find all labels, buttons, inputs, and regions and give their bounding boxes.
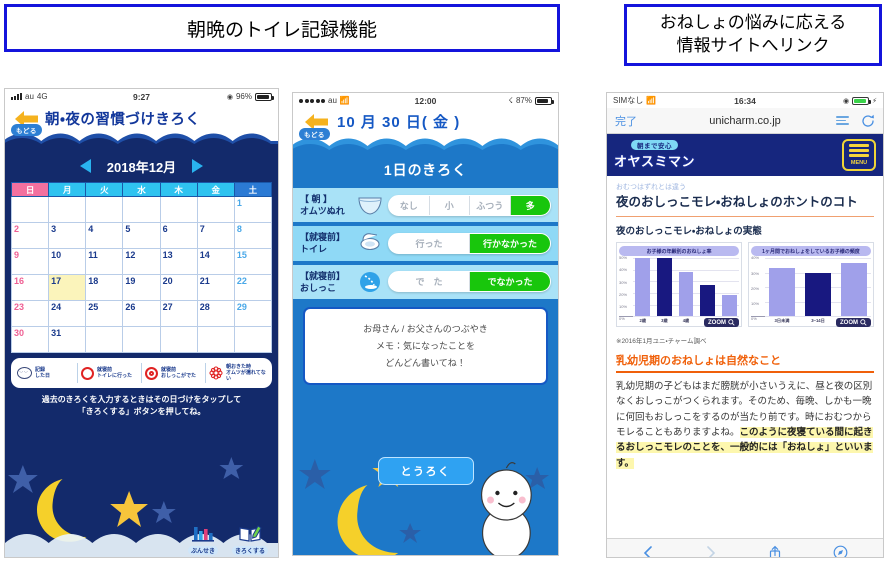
calendar-day-cell[interactable]: 25 (86, 301, 123, 327)
segment-option[interactable]: なし (389, 196, 430, 215)
zoom-label: ZOOM (708, 320, 726, 326)
memo-placeholder-line: どんどん書いてね！ (385, 356, 465, 369)
site-logo[interactable]: 朝まで安心 オヤスミマン (614, 140, 695, 170)
bars (633, 258, 739, 316)
bottom-navigation: ぶんせききろくする (188, 523, 268, 555)
article-body: 乳幼児期の子どもはまだ膀胱が小さいうえに、昼と夜の区別なくおしっこがつくられます… (616, 379, 874, 471)
weekday-header: 火 (86, 183, 123, 197)
memo-placeholder-line: メモ：気になったことを (376, 339, 475, 352)
plot-area: 0%10%20%30%40%50% (619, 258, 739, 316)
calendar-day-cell[interactable]: 24 (49, 301, 86, 327)
safari-footer (607, 538, 883, 558)
back-label-2[interactable]: もどる (299, 128, 330, 140)
bar-wrapper (676, 258, 696, 316)
calendar-body: 1234567891011121314151617181920212223242… (12, 197, 272, 353)
record-rows: 【 朝 】オムツぬれなし小ふつう多【就寝前】トイレ行った行かなかった【就寝前】お… (293, 188, 558, 299)
chart-container: お子様の年齢別のおねしょ率0%10%20%30%40%50%2歳3歳4歳5歳6歳… (616, 242, 874, 327)
calendar-week-row: 2345678 (12, 223, 272, 249)
y-axis: 0%10%20%30%40%50% (619, 255, 633, 316)
divider (616, 216, 874, 217)
status-left-2: au 📶 (299, 96, 350, 105)
ring-icon (81, 367, 94, 380)
chart-title: お子様の年齢別のおねしょ率 (619, 246, 739, 256)
status-bar-2: au 📶 12:00 ☇ 87% (293, 93, 558, 108)
segment-option[interactable]: でなかった (470, 272, 550, 291)
wave-decoration (5, 129, 278, 151)
day-record-screen: 10 月 30 日( 金 ) もどる 1日のきろく 【 朝 】オムツぬれなし小ふ… (293, 108, 558, 556)
calendar-day-cell[interactable]: 9 (12, 249, 49, 275)
calendar-day-cell[interactable]: 12 (123, 249, 160, 275)
weekday-header: 木 (160, 183, 197, 197)
zoom-button[interactable]: ZOOM (836, 318, 871, 327)
bottom-nav-label: ぶんせき (188, 546, 218, 555)
location-icon-3: ◉ (843, 97, 849, 105)
status-right-3: ◉ ⚡ (843, 97, 877, 105)
segment-option[interactable]: ふつう (470, 196, 511, 215)
bottom-nav-label: きろくする (232, 546, 268, 555)
register-button[interactable]: とうろく (378, 457, 474, 485)
diaper-icon (357, 194, 383, 216)
hamburger-icon (849, 149, 869, 152)
phone-screenshot-website: SIMなし 📶 16:34 ◉ ⚡ 完了 unicharm.co.jp (606, 92, 884, 558)
calendar-week-row: 9101112131415 (12, 249, 272, 275)
month-navigation: 2018年12月 (11, 150, 272, 182)
divider-2 (616, 371, 874, 373)
calendar-day-cell[interactable]: 6 (160, 223, 197, 249)
bar-wrapper (698, 258, 718, 316)
record-row-label: 【就寝前】トイレ (300, 231, 352, 255)
calendar-day-cell[interactable]: 15 (234, 249, 271, 275)
zoom-label: ZOOM (840, 320, 858, 326)
hint-line-1: 過去のきろくを入力するときはその日づけをタップして (5, 394, 278, 406)
section-title: 1日のきろく (293, 154, 558, 188)
record-row: 【就寝前】トイレ行った行かなかった (293, 226, 558, 260)
screen-header: 朝・夜の習慣づけきろく もどる (5, 104, 278, 150)
chart-title: 1ヶ月間でおねしょをしているお子様の頻度 (751, 246, 871, 256)
bar-chart: 1ヶ月間でおねしょをしているお子様の頻度0%10%20%30%40%3日未満3~… (748, 242, 874, 327)
pee-icon (357, 271, 383, 293)
calendar-day-cell[interactable]: 14 (197, 249, 234, 275)
legend-item-label: 就寝前おしっこがでた (161, 367, 196, 380)
battery-percent-2: 87% (516, 96, 532, 105)
weekday-header: 金 (197, 183, 234, 197)
memo-placeholder-line: お母さん / お父さんのつぶやき (363, 322, 488, 335)
wifi-icon-3: 📶 (646, 96, 656, 105)
segment-option[interactable]: 行かなかった (470, 234, 550, 253)
signal-dots-icon (299, 99, 325, 103)
bar-wrapper (765, 258, 799, 316)
legend-item: 就寝前おしっこがでた (142, 363, 206, 383)
done-button[interactable]: 完了 (615, 113, 637, 129)
calendar-day-cell[interactable]: 22 (234, 275, 271, 301)
bar-wrapper (719, 258, 739, 316)
screen-header-2: 10 月 30 日( 金 ) もどる (293, 108, 558, 154)
bar (805, 273, 831, 317)
article-section-title: 乳幼児期のおねしょは自然なこと (616, 352, 874, 368)
calendar-area: 2018年12月 日月火水木金土 12345678910111213141516… (5, 150, 278, 353)
calendar-empty-cell (49, 197, 86, 223)
safari-toolbar: 完了 unicharm.co.jp (607, 108, 883, 134)
bar-wrapper (837, 258, 871, 316)
legend-item: 就寝前トイレに行った (78, 363, 142, 383)
article-subhead: 夜のおしっこモレ・おねしょの実態 (616, 223, 874, 237)
magnifier-icon (728, 319, 735, 326)
calendar-day-cell[interactable]: 5 (123, 223, 160, 249)
calendar-head-row: 日月火水木金土 (12, 183, 272, 197)
network-label: 4G (37, 92, 48, 101)
y-tick-label: 30% (619, 280, 627, 285)
double-ring-icon (145, 367, 158, 380)
bar (679, 272, 694, 316)
article-content: おむつはずれとは違う 夜のおしっこモレ・おねしょのホントのコト 夜のおしっこモレ… (607, 176, 883, 538)
legend-item: 記録した日 (14, 363, 78, 383)
bar-wrapper (633, 258, 653, 316)
flower-icon (209, 366, 223, 380)
calendar-screen: 朝・夜の習慣づけきろく もどる 2018年12月 日月火水木金土 (5, 104, 278, 558)
calendar-week-row: 16171819202122 (12, 275, 272, 301)
segment-option[interactable]: 多 (511, 196, 551, 215)
battery-icon-2 (535, 97, 552, 105)
calendar-empty-cell (234, 327, 271, 353)
next-month-button[interactable] (192, 159, 203, 173)
y-tick-label: 10% (619, 304, 627, 309)
phone-screenshot-day-record: au 📶 12:00 ☇ 87% 10 月 30 日( 金 ) (292, 92, 559, 556)
calendar-day-cell[interactable]: 16 (12, 275, 49, 301)
calendar-day-cell[interactable]: 20 (160, 275, 197, 301)
caption-right: おねしょの悩みに応える 情報サイトへリンク (624, 4, 882, 66)
status-right: ◉ 96% (227, 92, 272, 101)
calendar-day-cell[interactable]: 27 (160, 301, 197, 327)
status-right-2: ☇ 87% (508, 96, 552, 105)
x-tick-label: 3歳 (655, 318, 675, 324)
bar-wrapper (655, 258, 675, 316)
battery-icon-3 (852, 97, 869, 105)
y-axis: 0%10%20%30%40% (751, 255, 765, 316)
carrier-label-2: au (328, 96, 337, 105)
reload-icon[interactable] (861, 114, 875, 128)
phone-screenshot-calendar: au 4G 9:27 ◉ 96% (4, 88, 279, 558)
calendar-empty-cell (86, 327, 123, 353)
caption-right-line2: 情報サイトへリンク (660, 35, 847, 58)
y-tick-label: 20% (619, 292, 627, 297)
calendar-day-cell[interactable]: 31 (49, 327, 86, 353)
menu-label: MENU (851, 160, 867, 166)
site-header: 朝まで安心 オヤスミマン MENU (607, 134, 883, 176)
calendar-table: 日月火水木金土 12345678910111213141516171819202… (11, 182, 272, 353)
y-tick-label: 30% (751, 271, 759, 276)
month-label: 2018年12月 (107, 157, 176, 176)
calendar-day-cell[interactable]: 4 (86, 223, 123, 249)
calendar-empty-cell (160, 327, 197, 353)
memo-field[interactable]: お母さん / お父さんのつぶやきメモ：気になったことをどんどん書いてね！ (303, 307, 548, 385)
screenshot-root: 朝晩のトイレ記録機能 おねしょの悩みに応える 情報サイトへリンク au 4G 9… (0, 0, 890, 566)
bar (657, 258, 672, 316)
calendar-day-cell[interactable]: 10 (49, 249, 86, 275)
calendar-day-cell[interactable]: 11 (86, 249, 123, 275)
x-tick-label: 3日未満 (765, 318, 799, 324)
night-sky-illustration-2 (293, 437, 558, 556)
calendar-day-cell[interactable]: 17 (49, 275, 86, 301)
y-tick-label: 20% (751, 286, 759, 291)
bar (722, 295, 737, 316)
calendar-day-cell[interactable]: 23 (12, 301, 49, 327)
logo-tagline: 朝まで安心 (631, 140, 678, 150)
magnifier-icon (860, 319, 867, 326)
segmented-control[interactable]: なし小ふつう多 (388, 195, 551, 216)
page-title-2: 10 月 30 日( 金 ) (337, 111, 460, 132)
x-tick-label: 3~14日 (801, 318, 835, 324)
bluetooth-icon: ☇ (508, 96, 513, 105)
calendar-day-cell[interactable]: 2 (12, 223, 49, 249)
y-tick-label: 40% (751, 255, 759, 260)
baby-illustration (482, 463, 532, 556)
hamburger-icon (849, 144, 869, 147)
calendar-day-cell[interactable]: 7 (197, 223, 234, 249)
signal-bars-icon (11, 93, 22, 100)
status-left: au 4G (11, 92, 48, 101)
caption-left: 朝晩のトイレ記録機能 (4, 4, 560, 52)
calendar-week-row: 1 (12, 197, 272, 223)
weekday-header: 土 (234, 183, 271, 197)
calendar-empty-cell (12, 197, 49, 223)
article-headline: 夜のおしっこモレ・おねしょのホントのコト (616, 194, 874, 210)
calendar-hint: 過去のきろくを入力するときはその日づけをタップして 「きろくする」ボタンを押して… (5, 394, 278, 419)
calendar-day-cell[interactable]: 30 (12, 327, 49, 353)
prev-month-button[interactable] (80, 159, 91, 173)
calendar-legend: 記録した日就寝前トイレに行った就寝前おしっこがでた朝おきた時オムツが濡れてない (11, 358, 272, 388)
notebook-pencil-icon (238, 523, 262, 545)
calendar-day-cell[interactable]: 1 (234, 197, 271, 223)
bars (765, 258, 871, 316)
y-tick-label: 0% (619, 316, 625, 321)
record-row-label: 【就寝前】おしっこ (300, 270, 352, 294)
calendar-empty-cell (197, 327, 234, 353)
legend-item-label: 記録した日 (35, 367, 50, 380)
bar (769, 268, 795, 316)
caption-left-text: 朝晩のトイレ記録機能 (187, 15, 377, 42)
page-title: 朝・夜の習慣づけきろく (45, 108, 200, 129)
calendar-day-cell[interactable]: 28 (197, 301, 234, 327)
chart-source-note: ※2016年1月ユニ・チャーム調べ (616, 335, 874, 345)
record-row: 【就寝前】おしっこで たでなかった (293, 265, 558, 299)
y-tick-label: 0% (751, 316, 757, 321)
calendar-day-cell[interactable]: 3 (49, 223, 86, 249)
legend-item-label: 朝おきた時オムツが濡れてない (226, 364, 269, 383)
calendar-day-cell[interactable]: 8 (234, 223, 271, 249)
calendar-empty-cell (123, 327, 160, 353)
caption-right-line1: おねしょの悩みに応える (660, 12, 847, 35)
calendar-day-cell[interactable]: 13 (160, 249, 197, 275)
bar (700, 285, 715, 316)
bar-chart-icon (191, 523, 215, 545)
y-tick-label: 40% (619, 267, 627, 272)
battery-percent: 96% (236, 92, 252, 101)
forward-icon (705, 545, 717, 559)
segmented-control[interactable]: 行った行かなかった (388, 233, 551, 254)
charging-icon: ⚡ (872, 97, 877, 105)
weekday-header: 水 (123, 183, 160, 197)
toilet-icon (357, 232, 383, 254)
calendar-day-cell[interactable]: 29 (234, 301, 271, 327)
bar (635, 258, 650, 316)
status-left-3: SIMなし 📶 (613, 95, 656, 106)
bar-wrapper (801, 258, 835, 316)
legend-item-label: 就寝前トイレに行った (97, 367, 132, 380)
x-tick-label: 4歳 (676, 318, 696, 324)
legend-item: 朝おきた時オムツが濡れてない (206, 363, 269, 383)
calendar-week-row: 23242526272829 (12, 301, 272, 327)
article-kicker: おむつはずれとは違う (616, 182, 874, 192)
record-row-label: 【 朝 】オムツぬれ (300, 193, 352, 217)
plot-area: 0%10%20%30%40% (751, 258, 871, 316)
hamburger-icon (849, 154, 869, 157)
back-icon[interactable] (642, 545, 654, 559)
back-label[interactable]: もどる (11, 124, 42, 136)
calendar-day-cell[interactable]: 19 (123, 275, 160, 301)
face-icon (17, 367, 32, 379)
segment-option[interactable]: 小 (430, 196, 471, 215)
weekday-header: 日 (12, 183, 49, 197)
y-tick-label: 10% (751, 301, 759, 306)
bottom-nav-item[interactable]: きろくする (232, 523, 268, 555)
bar (841, 263, 867, 317)
wifi-icon: 📶 (340, 96, 350, 105)
calendar-day-cell[interactable]: 26 (123, 301, 160, 327)
zoom-button[interactable]: ZOOM (704, 318, 739, 327)
calendar-empty-cell (197, 197, 234, 223)
y-tick-label: 50% (619, 255, 627, 260)
bookmarks-icon[interactable] (833, 545, 848, 558)
segment-option[interactable]: 行った (389, 234, 470, 253)
calendar-empty-cell (86, 197, 123, 223)
calendar-empty-cell (160, 197, 197, 223)
share-icon[interactable] (768, 545, 782, 559)
calendar-week-row: 3031 (12, 327, 272, 353)
hint-line-2: 「きろくする」ボタンを押してね。 (5, 406, 278, 418)
calendar-empty-cell (123, 197, 160, 223)
x-tick-label: 2歳 (633, 318, 653, 324)
carrier-label: au (25, 92, 34, 101)
bottom-nav-item[interactable]: ぶんせき (188, 523, 218, 555)
battery-icon (255, 93, 272, 101)
location-icon: ◉ (227, 93, 233, 101)
segment-option[interactable]: で た (389, 272, 470, 291)
reader-view-icon[interactable] (836, 116, 849, 125)
wave-decoration-2 (293, 133, 558, 155)
segmented-control[interactable]: で たでなかった (388, 271, 551, 292)
status-bar: au 4G 9:27 ◉ 96% (5, 89, 278, 104)
calendar-day-cell[interactable]: 18 (86, 275, 123, 301)
weekday-header: 月 (49, 183, 86, 197)
status-bar-3: SIMなし 📶 16:34 ◉ ⚡ (607, 93, 883, 108)
bar-chart: お子様の年齢別のおねしょ率0%10%20%30%40%50%2歳3歳4歳5歳6歳… (616, 242, 742, 327)
calendar-day-cell[interactable]: 21 (197, 275, 234, 301)
record-row: 【 朝 】オムツぬれなし小ふつう多 (293, 188, 558, 222)
menu-button[interactable]: MENU (842, 139, 876, 171)
logo-brand: オヤスミマン (614, 151, 695, 170)
sim-label: SIMなし (613, 95, 643, 106)
